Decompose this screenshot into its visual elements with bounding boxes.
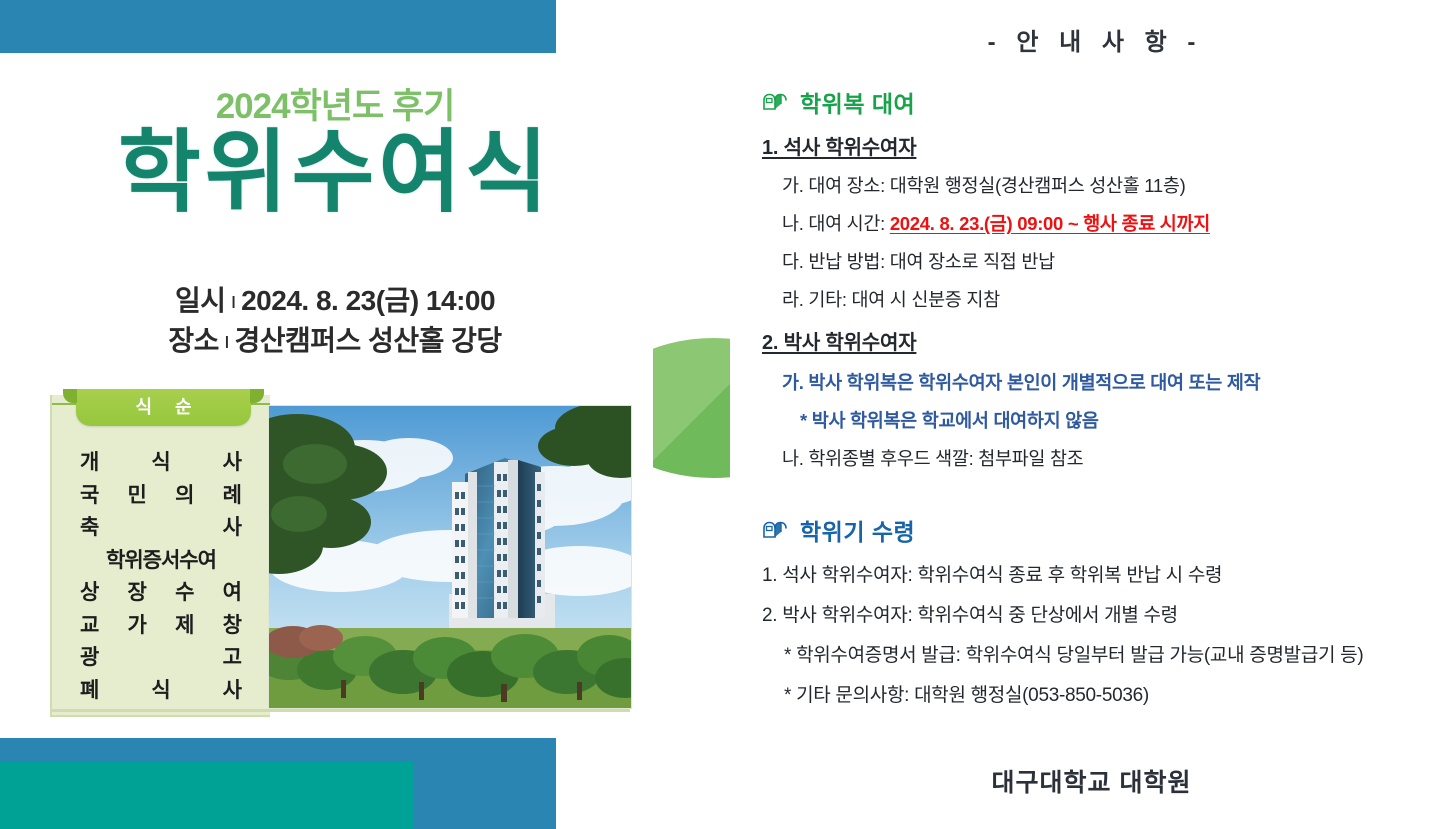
program-syllable: 식	[151, 675, 170, 708]
poster-panel: 2024학년도 후기 학위수여식 일시ı2024. 8. 23(금) 14:00…	[0, 0, 730, 829]
etc-id-label: 라.	[782, 289, 804, 310]
poster-datetime-label: 일시	[175, 285, 226, 316]
rental-time-prefix: 대여 시간:	[808, 213, 889, 234]
program-syllable: 창	[223, 610, 242, 643]
program-item: 개 식 사	[52, 447, 270, 480]
program-item: 학위증서수여	[52, 545, 270, 578]
program-syllable: 사	[223, 447, 242, 480]
rental-time-highlight: 2024. 8. 23.(금) 09:00 ~ 행사 종료 시까지	[890, 213, 1210, 234]
list-item-return-method: 다. 반납 방법: 대여 장소로 직접 반납	[762, 248, 1453, 274]
poster-year-label: 2024학년도 후기	[17, 78, 653, 129]
program-syllable: 가	[128, 610, 147, 643]
footer-organization: 대구대학교 대학원	[730, 763, 1453, 799]
program-syllable: 개	[80, 447, 99, 480]
etc-id-text: 기타: 대여 시 신분증 지참	[808, 289, 999, 310]
program-bottom-rule	[50, 709, 630, 712]
poster-venue-value: 경산캠퍼스 성산홀 강당	[234, 325, 501, 356]
decor-blue-top-band	[0, 0, 556, 53]
doctoral-heading-text: 2. 박사 학위수여자	[762, 332, 916, 354]
list-item-doctoral-pickup: 2. 박사 학위수여자: 학위수여식 중 단상에서 개별 수령	[762, 600, 1453, 627]
program-syllable: 민	[128, 480, 147, 513]
section-heading-gown-rental: 학위복 대여	[762, 85, 1453, 119]
program-syllable: 국	[80, 480, 99, 513]
list-item-doctoral-gown: 가. 박사 학위복은 학위수여자 본인이 개별적으로 대여 또는 제작	[762, 369, 1453, 395]
hood-color-label: 나.	[782, 448, 804, 469]
mailbox-icon	[762, 91, 788, 113]
hood-color-text: 학위종별 후우드 색깔: 첨부파일 참조	[808, 448, 1083, 469]
poster-meta: 일시ı2024. 8. 23(금) 14:00 장소ı경산캠퍼스 성산홀 강당	[17, 281, 653, 361]
decor-teal-band	[0, 762, 414, 829]
campus-building-photo	[268, 405, 632, 709]
return-method-text: 반납 방법: 대여 장소로 직접 반납	[808, 251, 1054, 272]
program-item: 상 장 수 여	[52, 577, 270, 610]
program-syllable: 장	[128, 577, 147, 610]
program-list-panel: 식 순 개 식 사 국 민 의 례 축 사	[50, 395, 270, 717]
program-syllable: 고	[223, 642, 242, 675]
mailbox-icon	[762, 519, 788, 541]
notice-panel: - 안 내 사 항 - 학위복 대여 1. 석사 학위수여자 가. 대여 장소:…	[730, 0, 1453, 829]
program-syllable: 의	[175, 480, 194, 513]
list-item-doctoral-heading: 2. 박사 학위수여자	[762, 326, 1453, 355]
program-syllable: 사	[223, 675, 242, 708]
poster-venue-label: 장소	[168, 325, 219, 356]
masters-heading-text: 1. 석사 학위수여자	[762, 137, 916, 159]
program-syllable: 여	[223, 577, 242, 610]
section-heading-label: 학위복 대여	[800, 85, 915, 119]
program-section: 식 순 개 식 사 국 민 의 례 축 사	[50, 395, 630, 715]
list-item-masters-pickup: 1. 석사 학위수여자: 학위수여식 종료 후 학위복 반납 시 수령	[762, 560, 1453, 587]
poster-venue-row: 장소ı경산캠퍼스 성산홀 강당	[17, 321, 653, 361]
program-list: 개 식 사 국 민 의 례 축 사 학위증서수여	[52, 447, 270, 707]
list-item-masters-heading: 1. 석사 학위수여자	[762, 131, 1453, 160]
list-item-contact-info: * 기타 문의사항: 대학원 행정실(053-850-5036)	[762, 680, 1453, 707]
program-syllable: 학위증서수여	[106, 545, 216, 578]
program-item: 광 고	[52, 642, 270, 675]
notice-page-title: - 안 내 사 항 -	[730, 0, 1453, 57]
program-syllable: 사	[223, 512, 242, 545]
list-item-rental-place: 가. 대여 장소: 대학원 행정실(경산캠퍼스 성산홀 11층)	[762, 172, 1453, 198]
doctoral-gown-label: 가.	[782, 372, 804, 393]
list-item-hood-color: 나. 학위종별 후우드 색깔: 첨부파일 참조	[762, 445, 1453, 471]
program-syllable: 폐	[80, 675, 99, 708]
poster-title: 학위수여식	[17, 126, 653, 221]
list-item-etc-id: 라. 기타: 대여 시 신분증 지참	[762, 286, 1453, 312]
program-item: 축 사	[52, 512, 270, 545]
program-syllable: 제	[175, 610, 194, 643]
program-syllable: 축	[80, 512, 99, 545]
list-item-rental-time: 나. 대여 시간: 2024. 8. 23.(금) 09:00 ~ 행사 종료 …	[762, 210, 1453, 236]
poster-datetime-row: 일시ı2024. 8. 23(금) 14:00	[17, 281, 653, 321]
program-item: 국 민 의 례	[52, 480, 270, 513]
program-syllable: 식	[151, 447, 170, 480]
list-item-doctoral-gown-note: * 박사 학위복은 학교에서 대여하지 않음	[762, 407, 1453, 433]
program-syllable: 교	[80, 610, 99, 643]
program-syllable: 수	[175, 577, 194, 610]
poster-datetime-value: 2024. 8. 23(금) 14:00	[241, 285, 495, 316]
section-heading-label: 학위기 수령	[800, 513, 915, 547]
rental-time-label: 나.	[782, 213, 804, 234]
program-item: 폐 식 사	[52, 675, 270, 708]
program-syllable: 광	[80, 642, 99, 675]
list-item-certificate-issue: * 학위수여증명서 발급: 학위수여식 당일부터 발급 가능(교내 증명발급기 …	[762, 640, 1453, 667]
section-diploma-pickup: 학위기 수령 1. 석사 학위수여자: 학위수여식 종료 후 학위복 반납 시 …	[730, 513, 1453, 707]
poster-card: 2024학년도 후기 학위수여식 일시ı2024. 8. 23(금) 14:00…	[17, 53, 653, 738]
rental-place-label: 가.	[782, 175, 804, 196]
program-syllable: 례	[223, 480, 242, 513]
poster-datetime-separator: ı	[225, 288, 241, 313]
doctoral-gown-text: 박사 학위복은 학위수여자 본인이 개별적으로 대여 또는 제작	[808, 372, 1260, 393]
program-syllable: 상	[80, 577, 99, 610]
section-heading-diploma-pickup: 학위기 수령	[762, 513, 1453, 547]
section-gown-rental: 학위복 대여 1. 석사 학위수여자 가. 대여 장소: 대학원 행정실(경산캠…	[730, 85, 1453, 471]
rental-place-text: 대여 장소: 대학원 행정실(경산캠퍼스 성산홀 11층)	[808, 175, 1185, 196]
return-method-label: 다.	[782, 251, 804, 272]
program-item: 교 가 제 창	[52, 610, 270, 643]
poster-venue-separator: ı	[219, 328, 235, 353]
program-heading-ribbon: 식 순	[76, 389, 251, 426]
